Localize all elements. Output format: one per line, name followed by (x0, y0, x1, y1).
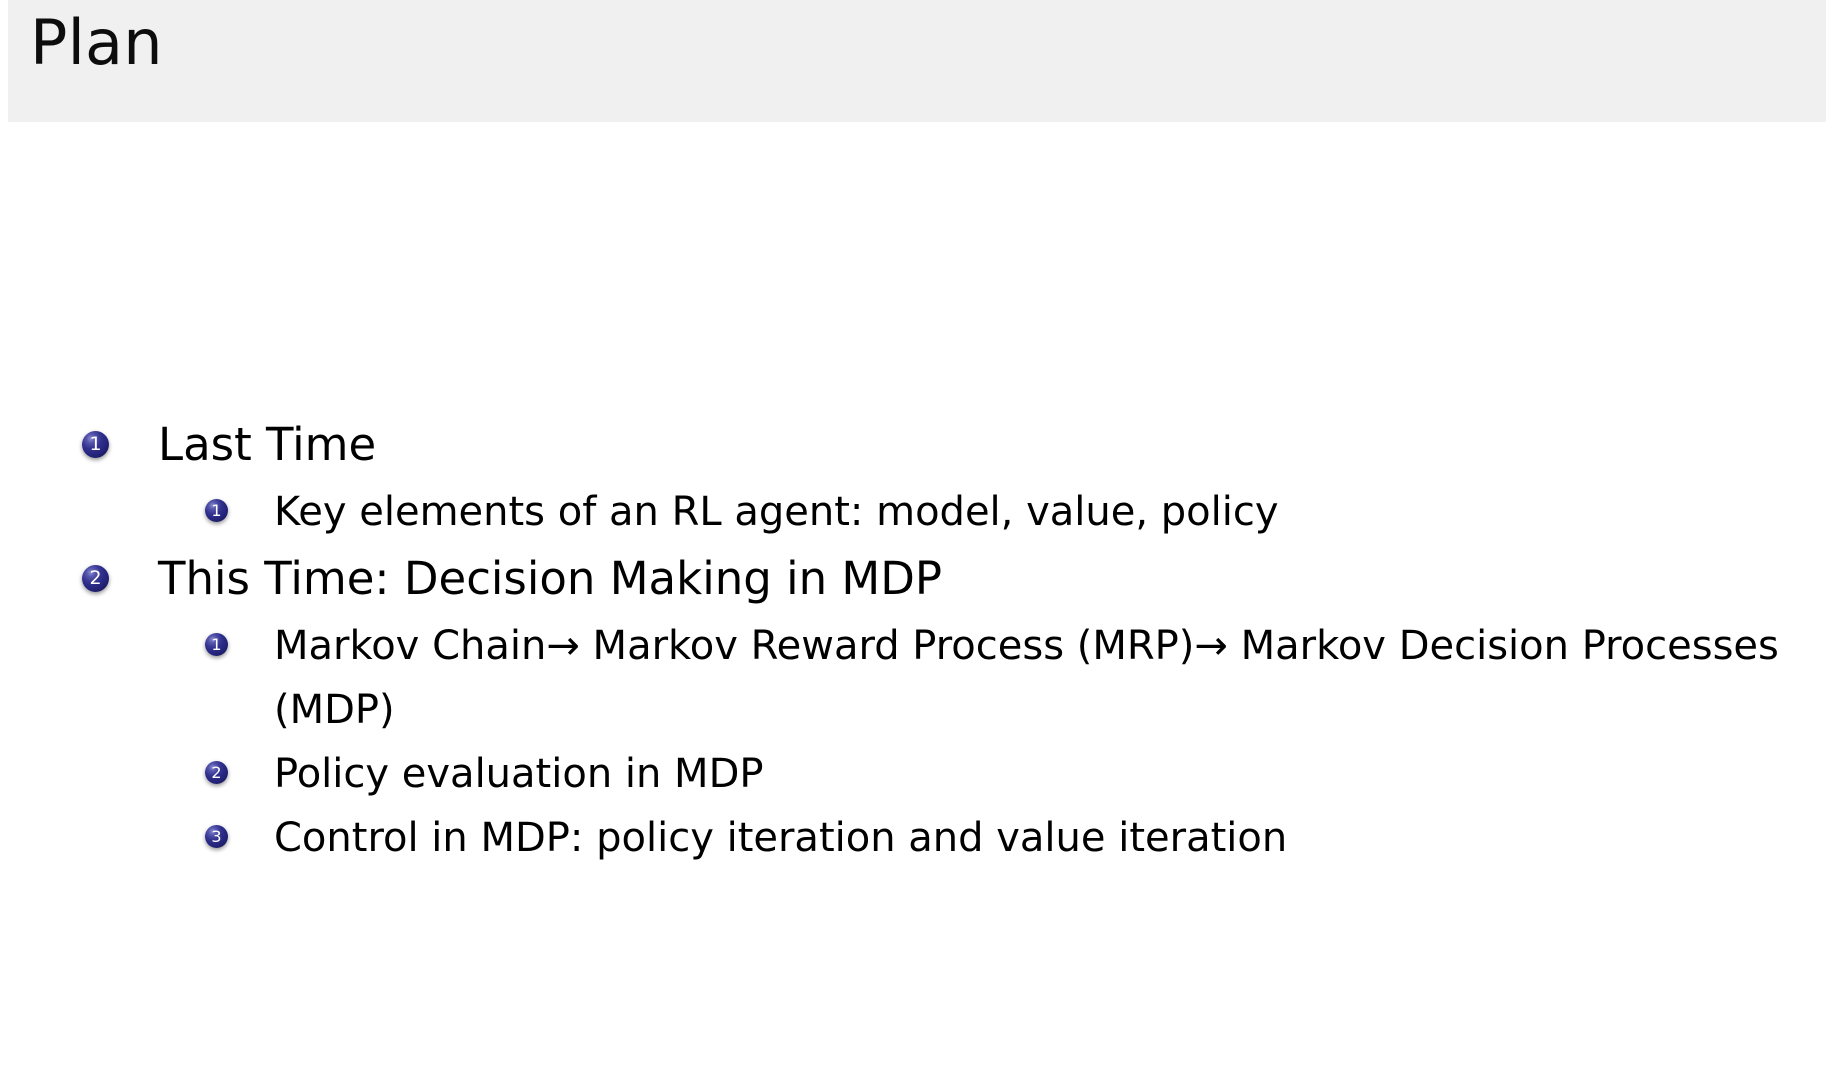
numbered-bullet-icon: 1 (205, 499, 228, 522)
bullet-number: 2 (82, 565, 109, 592)
slide-body: 1 Last Time 1 Key elements of an RL agen… (0, 122, 1826, 1068)
list-item: 1 Markov Chain→ Markov Reward Process (M… (0, 614, 1826, 742)
list-item-label: Control in MDP: policy iteration and val… (274, 815, 1287, 861)
numbered-bullet-icon: 1 (205, 633, 228, 656)
bullet-number: 3 (205, 825, 228, 848)
list-item: 2 Policy evaluation in MDP (0, 742, 1826, 806)
list-item: 3 Control in MDP: policy iteration and v… (0, 806, 1826, 870)
bullet-number: 1 (205, 499, 228, 522)
numbered-bullet-icon: 2 (82, 565, 109, 592)
page-title: Plan (30, 12, 163, 74)
bullet-number: 1 (82, 431, 109, 458)
numbered-bullet-icon: 2 (205, 761, 228, 784)
list-item: 1 Key elements of an RL agent: model, va… (0, 480, 1826, 544)
numbered-bullet-icon: 3 (205, 825, 228, 848)
list-item: 1 Last Time (0, 410, 1826, 480)
slide-title-bar: Plan (8, 0, 1826, 122)
list-item: 2 This Time: Decision Making in MDP (0, 544, 1826, 614)
list-item-label: Key elements of an RL agent: model, valu… (274, 489, 1279, 535)
list-item-label: This Time: Decision Making in MDP (158, 552, 942, 605)
list-item-label: Markov Chain→ Markov Reward Process (MRP… (274, 614, 1814, 742)
numbered-bullet-icon: 1 (82, 431, 109, 458)
bullet-number: 2 (205, 761, 228, 784)
slide: Plan 1 Last Time 1 Key elements of an RL… (0, 0, 1826, 1068)
list-item-label: Last Time (158, 418, 376, 471)
list-item-label: Policy evaluation in MDP (274, 751, 764, 797)
outline-list: 1 Last Time 1 Key elements of an RL agen… (0, 410, 1826, 870)
bullet-number: 1 (205, 633, 228, 656)
